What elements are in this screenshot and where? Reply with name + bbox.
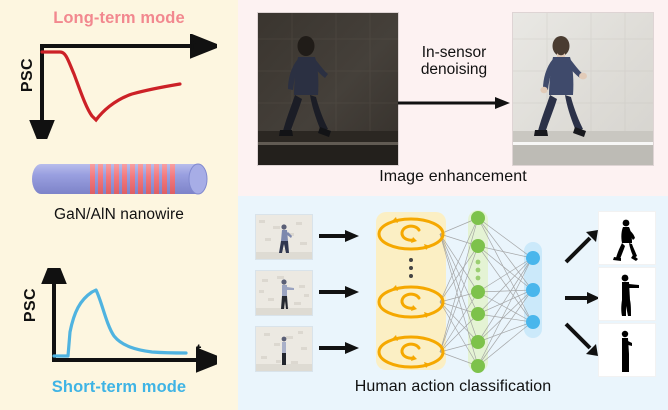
long-term-x-axis-label: t [190,38,195,56]
image-enhancement-caption: Image enhancement [238,168,668,186]
short-term-curve [54,290,186,356]
nanowire-stripes [90,162,175,198]
output-arrow-icon-up [562,228,602,268]
neural-network-diagram [372,208,562,374]
long-term-psc-plot [22,34,217,139]
input-arrow-icon-2 [318,285,360,299]
noisy-frame-walking [255,214,313,260]
denoising-arrow-icon [396,95,514,111]
noisy-input-photo [257,12,399,166]
denoised-output-photo [512,12,654,166]
figure-root: Long-term mode PSC t [0,0,668,410]
short-term-mode-title: Short-term mode [0,378,238,397]
short-term-x-axis-label: t [196,342,201,360]
nanowire-illustration [27,158,212,202]
output-arrow-icon-down [562,318,602,358]
denoising-label-line1: In-sensor [422,44,487,61]
denoising-label: In-sensor denoising [398,44,510,79]
nanowire-body [32,164,207,194]
noisy-frame-standing [255,326,313,372]
nanowire-end-cap [189,164,207,194]
short-term-psc-plot [22,268,217,373]
output-silhouette-arm-out [598,267,656,321]
output-layer-nodes [526,251,540,329]
long-term-mode-title: Long-term mode [0,9,238,28]
long-term-y-axis-label: PSC [19,58,37,92]
long-term-curve [42,52,180,120]
noisy-frame-arms-out [255,270,313,316]
short-term-y-axis-label: PSC [22,288,40,322]
action-classification-caption: Human action classification [238,378,668,396]
output-silhouette-walking [598,211,656,265]
input-arrow-icon-3 [318,341,360,355]
input-arrow-icon-1 [318,229,360,243]
recurrent-layer-ellipsis [409,258,413,278]
denoising-label-line2: denoising [421,61,487,78]
nanowire-caption: GaN/AlN nanowire [0,206,238,224]
output-silhouette-standing [598,323,656,377]
hidden-layer-ellipsis [476,260,481,281]
output-arrow-icon-right [562,278,602,318]
